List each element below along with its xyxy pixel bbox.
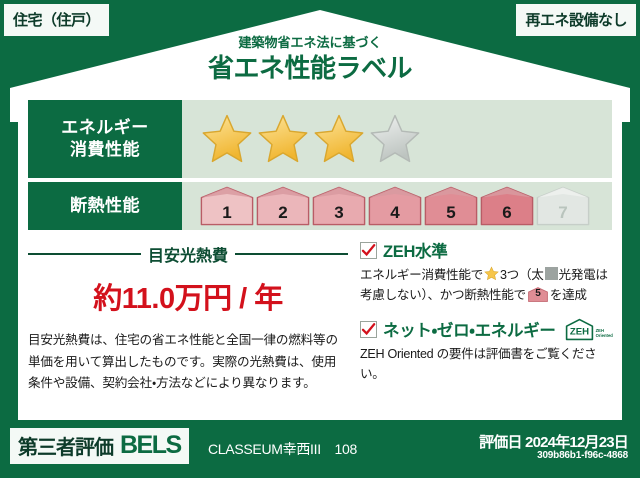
insulation-level-number: 5 <box>424 203 478 223</box>
star-filled-icon <box>312 113 366 165</box>
insulation-level-2: 2 <box>256 186 310 226</box>
cost-heading: 目安光熱費 <box>28 242 348 266</box>
zeh-logo-text: ZEH <box>570 326 589 337</box>
star-rating <box>200 113 422 165</box>
zeh-house-icon: ZEH <box>565 318 594 341</box>
check-block-net-zero-energy: ネット・ゼロ・エネルギー ZEH ZEH Oriented <box>360 317 612 384</box>
check-head-zeh-standard: ZEH水準 <box>360 238 612 262</box>
energy-performance-label-line1: エネルギー <box>61 117 149 139</box>
evaluation-date: 評価日 2024年12月23日 <box>479 431 628 452</box>
inline-chip-number: 5 <box>528 286 548 302</box>
evaluation-id: 309b86b1-f96c-4868 <box>537 450 628 461</box>
energy-performance-label-line2: 消費性能 <box>70 139 140 161</box>
star-empty-icon <box>368 113 422 165</box>
inline-insulation-chip: 5 <box>528 287 548 302</box>
checkbox-zeh-standard[interactable] <box>360 242 377 259</box>
insulation-level-number: 1 <box>200 203 254 223</box>
redacted-character <box>545 267 558 280</box>
insulation-level-number: 3 <box>312 203 366 223</box>
check-body-pre: エネルギー消費性能で <box>360 268 483 282</box>
label-card-inner: エネルギー 消費性能 断熱性能 1234567 目安 <box>28 100 612 410</box>
zeh-logo: ZEH ZEH Oriented <box>565 318 613 341</box>
check-body-post: を達成 <box>550 288 587 302</box>
insulation-level-number: 7 <box>536 203 590 223</box>
cost-column: 目安光熱費 約11.0万円 / 年 目安光熱費は、住宅の省エネ性能と全国一律の燃… <box>28 238 358 410</box>
energy-performance-label: エネルギー 消費性能 <box>28 100 182 178</box>
check-title-net-zero-energy: ネット・ゼロ・エネルギー <box>383 317 556 341</box>
checkmark-icon <box>361 243 376 258</box>
checkmark-icon <box>361 322 376 337</box>
star-filled-icon <box>256 113 310 165</box>
zeh-logo-caption-line2: Oriented <box>596 333 613 338</box>
bels-logo-text: BELS <box>120 431 181 460</box>
insulation-level-5: 5 <box>424 186 478 226</box>
bels-certification-box: 第三者評価 BELS <box>10 428 189 464</box>
footer: 第三者評価 BELS CLASSEUM幸西III 108 評価日 2024年12… <box>0 420 640 478</box>
property-name: CLASSEUM幸西III 108 <box>208 439 357 459</box>
insulation-level-6: 6 <box>480 186 534 226</box>
lower-section: 目安光熱費 約11.0万円 / 年 目安光熱費は、住宅の省エネ性能と全国一律の燃… <box>28 238 612 410</box>
insulation-performance-label: 断熱性能 <box>28 182 182 230</box>
energy-performance-label: 建築物省エネ法に基づく 省エネ性能ラベル 住宅（住戸） 再エネ設備なし エネルギ… <box>0 0 640 478</box>
label-card: エネルギー 消費性能 断熱性能 1234567 目安 <box>18 90 622 420</box>
insulation-level-number: 2 <box>256 203 310 223</box>
insulation-level-7: 7 <box>536 186 590 226</box>
cost-heading-rule-right <box>235 253 348 255</box>
energy-performance-row: エネルギー 消費性能 <box>28 100 612 178</box>
inline-star-icon <box>484 266 499 281</box>
check-body-zeh-standard: エネルギー消費性能で3つ（太光発電は考慮しない）、かつ断熱性能で5を達成 <box>360 265 612 305</box>
check-title-zeh-standard: ZEH水準 <box>383 238 448 262</box>
badge-renewable-energy: 再エネ設備なし <box>516 4 636 36</box>
energy-performance-value <box>182 100 612 178</box>
cost-heading-rule-left <box>28 253 141 255</box>
insulation-level-number: 6 <box>480 203 534 223</box>
checks-column: ZEH水準 エネルギー消費性能で3つ（太光発電は考慮しない）、かつ断熱性能で5を… <box>358 238 612 410</box>
cost-heading-text: 目安光熱費 <box>148 242 228 266</box>
insulation-level-scale: 1234567 <box>200 186 590 226</box>
insulation-performance-row: 断熱性能 1234567 <box>28 182 612 230</box>
insulation-performance-value: 1234567 <box>182 182 612 230</box>
check-body-mid: 3つ（太 <box>500 268 544 282</box>
insulation-level-number: 4 <box>368 203 422 223</box>
insulation-level-1: 1 <box>200 186 254 226</box>
check-head-net-zero-energy: ネット・ゼロ・エネルギー ZEH ZEH Oriented <box>360 317 612 341</box>
cost-note: 目安光熱費は、住宅の省エネ性能と全国一律の燃料等の単価を用いて算出したものです。… <box>28 330 348 395</box>
insulation-level-4: 4 <box>368 186 422 226</box>
insulation-level-3: 3 <box>312 186 366 226</box>
zeh-logo-caption: ZEH Oriented <box>596 329 613 341</box>
cost-amount: 約11.0万円 / 年 <box>28 275 348 317</box>
check-body-net-zero-energy: ZEH Oriented の要件は評価書をご覧ください。 <box>360 344 612 384</box>
check-block-zeh-standard: ZEH水準 エネルギー消費性能で3つ（太光発電は考慮しない）、かつ断熱性能で5を… <box>360 238 612 305</box>
badge-building-type: 住宅（住戸） <box>4 4 109 36</box>
checkbox-net-zero-energy[interactable] <box>360 321 377 338</box>
star-filled-icon <box>200 113 254 165</box>
third-party-eval-label: 第三者評価 <box>18 431 113 460</box>
